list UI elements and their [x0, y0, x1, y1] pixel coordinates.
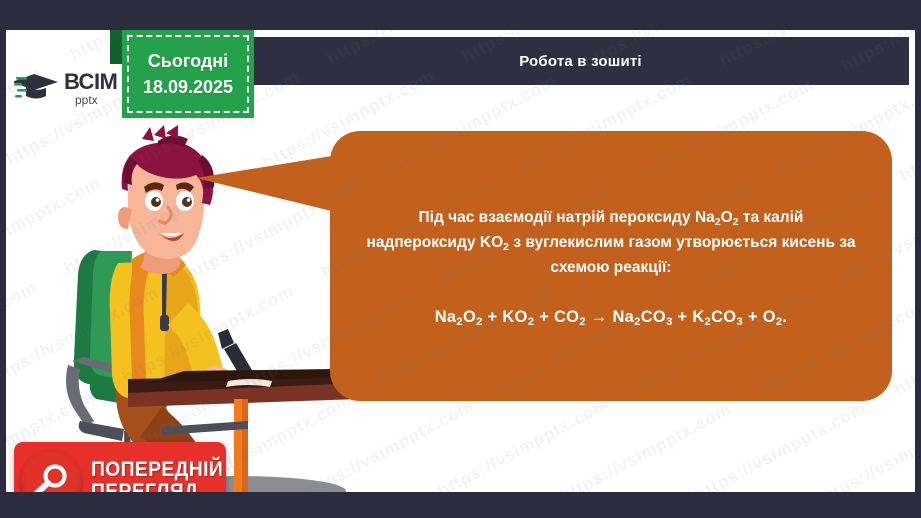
eq-p1-s1: 2: [634, 316, 641, 328]
eq-r1: Na: [435, 308, 457, 326]
eq-p1-s2: 3: [666, 316, 673, 328]
para-sub-3: 2: [503, 241, 509, 253]
eq-p1-mid: CO: [641, 308, 666, 326]
eq-p2-mid: CO: [711, 308, 736, 326]
para-seg-4: з вуглекислим газом утворюється кисень з…: [509, 234, 855, 276]
eq-arrow: →: [586, 308, 613, 326]
para-sub-1: 2: [715, 216, 721, 228]
eq-r3: CO: [554, 308, 579, 326]
bubble-paragraph: Під час взаємодії натрій пероксиду Na2O2…: [364, 205, 858, 280]
eq-p2-s2: 3: [736, 316, 743, 328]
eq-r3-s: 2: [579, 316, 586, 328]
eq-p3: O: [763, 308, 776, 326]
preview-badge-line1: ПОПЕРЕДНІЙ: [91, 459, 223, 481]
speech-bubble-tail-lower: [196, 178, 344, 214]
date-badge-date: 18.09.2025: [143, 74, 233, 100]
eq-r2: KO: [502, 308, 527, 326]
date-badge-label: Сьогодні: [148, 48, 228, 74]
magnifier-icon: [20, 450, 82, 492]
eq-plus-3: +: [673, 308, 693, 326]
preview-badge[interactable]: ПОПЕРЕДНІЙ ПЕРЕГЛЯД: [14, 442, 226, 492]
slide-frame: ВСІМ pptx Робота в зошиті Під час взаємо…: [0, 0, 921, 518]
speech-bubble-tail-upper: [196, 154, 344, 178]
para-seg-2: O: [721, 209, 733, 226]
eq-r2-s: 2: [528, 316, 535, 328]
para-seg-1: Під час взаємодії натрій пероксиду Na: [419, 209, 715, 226]
date-badge: Сьогодні 18.09.2025: [122, 30, 254, 118]
preview-badge-line2: ПЕРЕГЛЯД: [91, 481, 223, 492]
eq-plus-4: +: [743, 308, 763, 326]
graduation-cap-icon: [14, 68, 60, 108]
eq-p1: Na: [612, 308, 634, 326]
eq-r1-s2: 2: [476, 316, 483, 328]
eq-p3-s: 2: [776, 316, 783, 328]
eq-period: .: [782, 308, 787, 326]
speech-bubble: Під час взаємодії натрій пероксиду Na2O2…: [330, 131, 892, 401]
header-bar: Робота в зошиті: [252, 37, 909, 85]
eq-r1-s1: 2: [456, 316, 463, 328]
logo-main-text: ВСІМ: [64, 71, 117, 93]
logo-sub-text: pptx: [75, 94, 117, 106]
eq-plus-2: +: [534, 308, 554, 326]
watermark-row: https://vsimpptx.com https://vsimpptx.co…: [260, 467, 915, 492]
page-title: Робота в зошиті: [519, 53, 642, 70]
brand-logo: ВСІМ pptx: [14, 60, 134, 116]
para-sub-2: 2: [733, 216, 739, 228]
eq-plus-1: +: [483, 308, 503, 326]
eq-p2-s1: 2: [705, 316, 712, 328]
chemical-equation: Na2O2 + KO2 + CO2 → Na2CO3 + K2CO3 + O2.: [435, 308, 788, 327]
slide-canvas: ВСІМ pptx Робота в зошиті Під час взаємо…: [6, 30, 915, 492]
eq-r1-mid: O: [463, 308, 476, 326]
eq-p2: K: [692, 308, 704, 326]
